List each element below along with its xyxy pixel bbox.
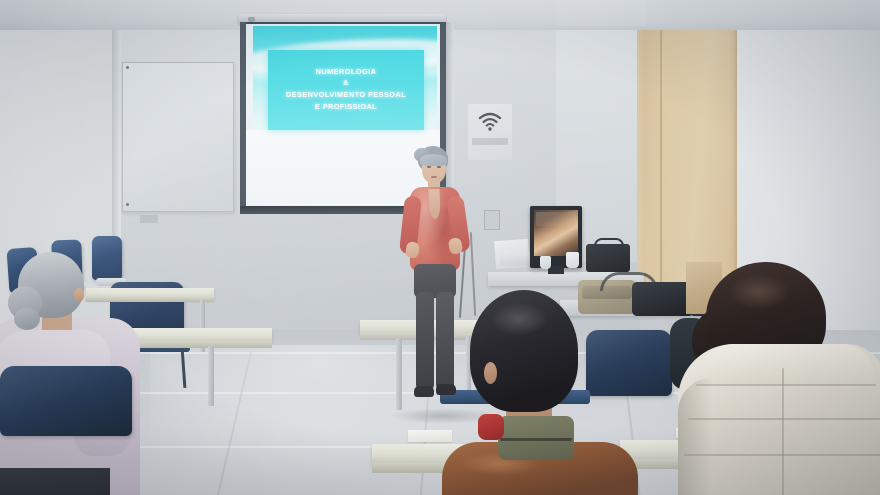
cabinet-seam <box>660 0 662 300</box>
puffer-shadow <box>678 378 712 495</box>
whiteboard-mount-screw <box>126 66 129 69</box>
paper-cup <box>566 252 579 268</box>
attendee-right-puffer-jacket <box>686 258 880 495</box>
puffer-seam <box>782 368 784 495</box>
whiteboard <box>122 62 234 212</box>
attendee-hair-highlight <box>490 302 548 336</box>
attendee-ear <box>74 288 84 302</box>
black-bag-handle <box>594 238 624 249</box>
attendee-jacket-collar <box>694 344 874 384</box>
presenter-eye <box>427 166 431 168</box>
attendee-hair-bun-lower <box>14 308 40 330</box>
wifi-icon <box>478 112 502 132</box>
monitor-stand <box>548 266 564 274</box>
slide-title-line-3: DESENVOLVIMENTO PESSOAL <box>286 91 406 100</box>
paper-stack <box>500 251 531 267</box>
attendee-lap <box>0 468 110 495</box>
slide-title-line-4: E PROFISSIOAL <box>315 103 377 112</box>
black-handbag <box>632 282 694 316</box>
presenter-hair-front <box>420 154 447 166</box>
ceiling-soffit <box>556 0 646 26</box>
presenter-mouth <box>431 176 437 178</box>
presenter-eye <box>437 166 441 168</box>
whiteboard-mount-screw <box>126 203 129 206</box>
monitor-glare <box>536 212 576 226</box>
classroom-photo: NUMEROLOGIA & DESENVOLVIMENTO PESSOAL E … <box>0 0 880 495</box>
wood-cabinet-panel <box>637 0 739 300</box>
attendee-red-accessory <box>478 414 504 440</box>
presenter-neckline <box>428 189 440 219</box>
presenter-shoe-left <box>414 386 434 397</box>
presenter-leg-left <box>416 292 434 390</box>
whiteboard-marker-tray <box>140 215 158 223</box>
attendee-scarf-cord <box>500 438 572 441</box>
wifi-sign-caption <box>472 138 508 145</box>
desk-leg <box>208 346 214 406</box>
paper-cup <box>540 256 551 269</box>
slide-title-block: NUMEROLOGIA & DESENVOLVIMENTO PESSOAL E … <box>268 50 424 130</box>
attendee-hair-highlight <box>728 274 790 310</box>
puffer-seam <box>696 384 876 386</box>
slide-title-line-1: NUMEROLOGIA <box>316 68 377 77</box>
attendee-ear <box>484 362 497 384</box>
slide-title-line-2: & <box>343 80 348 88</box>
puffer-seam <box>688 418 880 420</box>
attendee-center-dark-hair <box>440 290 640 495</box>
blue-chair-backrest[interactable] <box>0 366 132 436</box>
